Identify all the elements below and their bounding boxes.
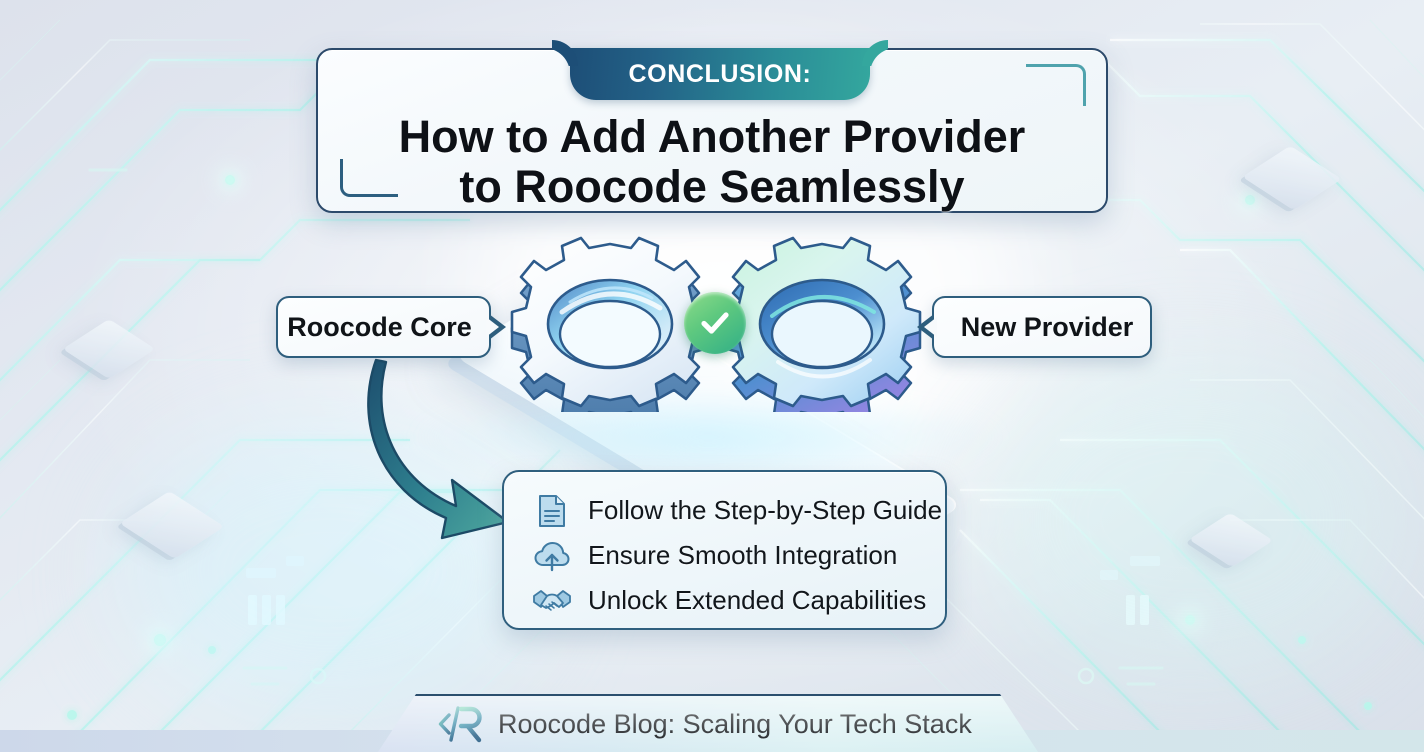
label-new-provider[interactable]: New Provider: [932, 296, 1152, 358]
pointer-right-icon: [489, 314, 506, 340]
conclusion-banner: CONCLUSION:: [570, 48, 870, 100]
check-badge: [684, 292, 746, 354]
page-title-line1: How to Add Another Provider: [318, 112, 1106, 162]
corner-bracket-bottom-left-icon: [340, 159, 398, 197]
list-item-label: Ensure Smooth Integration: [588, 540, 897, 571]
document-icon: [530, 494, 574, 528]
list-item[interactable]: Unlock Extended Capabilities: [530, 578, 945, 623]
pointer-left-icon: [917, 314, 934, 340]
benefits-list-card: Follow the Step-by-Step Guide Ensure Smo…: [502, 470, 947, 630]
handshake-icon: [530, 586, 574, 616]
page-title-line2: to Roocode Seamlessly: [318, 162, 1106, 212]
circuit-chip: [120, 491, 225, 559]
list-item-label: Follow the Step-by-Step Guide: [588, 495, 942, 526]
footer-text: Roocode Blog: Scaling Your Tech Stack: [498, 709, 972, 740]
title-card: CONCLUSION: How to Add Another Provider …: [316, 48, 1108, 213]
list-item-label: Unlock Extended Capabilities: [588, 585, 926, 616]
check-icon: [696, 304, 734, 342]
circuit-chip: [63, 319, 156, 379]
page-title: How to Add Another Provider to Roocode S…: [318, 112, 1106, 212]
footer-bar[interactable]: Roocode Blog: Scaling Your Tech Stack: [378, 694, 1038, 752]
label-new-provider-text: New Provider: [961, 312, 1134, 343]
cloud-upload-icon: [530, 540, 574, 572]
conclusion-banner-label: CONCLUSION:: [629, 60, 812, 89]
corner-bracket-top-right-icon: [1026, 64, 1086, 106]
infographic-canvas: CONCLUSION: How to Add Another Provider …: [0, 0, 1424, 752]
circuit-chip: [1189, 513, 1273, 568]
list-item[interactable]: Ensure Smooth Integration: [530, 533, 945, 578]
list-item[interactable]: Follow the Step-by-Step Guide: [530, 488, 945, 533]
circuit-chip: [1242, 146, 1341, 211]
label-roocode-core-text: Roocode Core: [287, 312, 472, 343]
roocode-logo: [436, 702, 484, 746]
